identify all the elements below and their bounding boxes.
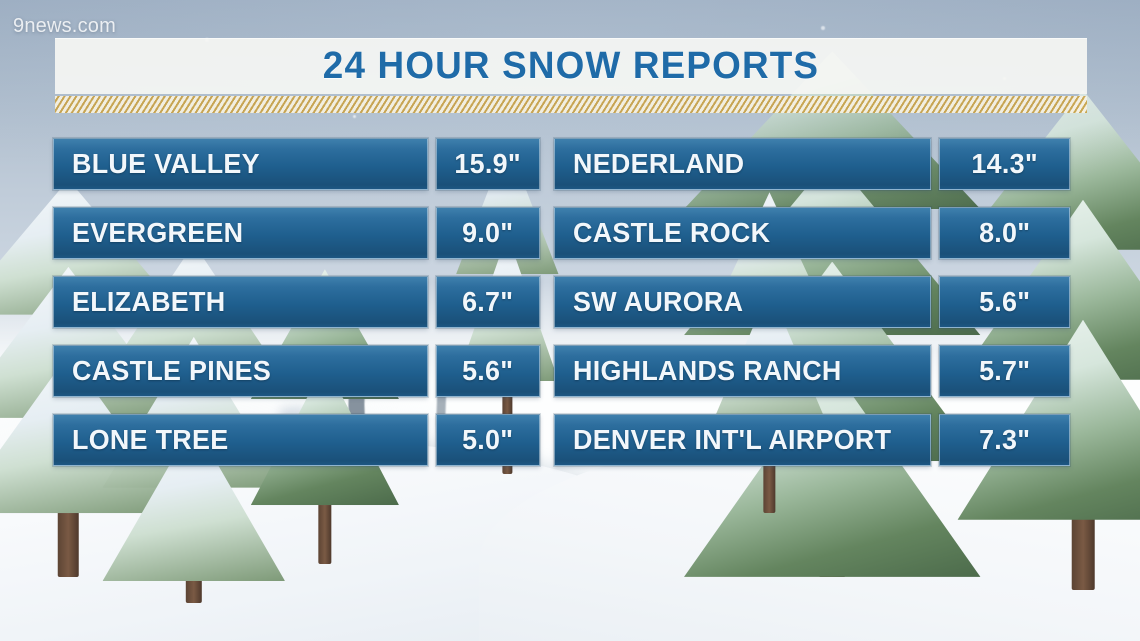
title-banner: 24 HOUR SNOW REPORTS <box>55 38 1087 94</box>
location-label: CASTLE PINES <box>72 355 271 387</box>
location-cell: SW AURORA <box>554 276 931 328</box>
snowfall-value: 5.7" <box>979 355 1030 387</box>
snowfall-cell: 15.9" <box>436 138 540 190</box>
snowfall-cell: 5.0" <box>436 414 540 466</box>
location-cell: CASTLE PINES <box>53 345 428 397</box>
location-label: NEDERLAND <box>573 148 744 180</box>
location-cell: DENVER INT'L AIRPORT <box>554 414 931 466</box>
location-label: HIGHLANDS RANCH <box>573 355 842 387</box>
snowfall-cell: 7.3" <box>939 414 1070 466</box>
snow-report-table: BLUE VALLEY 15.9" NEDERLAND 14.3" EVERGR… <box>53 138 1087 483</box>
location-label: ELIZABETH <box>72 286 225 318</box>
table-row: CASTLE PINES 5.6" HIGHLANDS RANCH 5.7" <box>53 345 1087 397</box>
location-cell: ELIZABETH <box>53 276 428 328</box>
table-row: BLUE VALLEY 15.9" NEDERLAND 14.3" <box>53 138 1087 190</box>
snowfall-value: 5.0" <box>462 424 513 456</box>
snowfall-value: 5.6" <box>462 355 513 387</box>
location-cell: NEDERLAND <box>554 138 931 190</box>
location-cell: CASTLE ROCK <box>554 207 931 259</box>
location-cell: EVERGREEN <box>53 207 428 259</box>
page-title: 24 HOUR SNOW REPORTS <box>70 38 1071 94</box>
table-row: LONE TREE 5.0" DENVER INT'L AIRPORT 7.3" <box>53 414 1087 466</box>
snowflake <box>821 26 825 30</box>
location-label: EVERGREEN <box>72 217 243 249</box>
location-cell: HIGHLANDS RANCH <box>554 345 931 397</box>
snowfall-value: 6.7" <box>462 286 513 318</box>
location-cell: BLUE VALLEY <box>53 138 428 190</box>
location-label: SW AURORA <box>573 286 743 318</box>
weather-graphic: 9news.com 24 HOUR SNOW REPORTS BLUE VALL… <box>0 0 1140 641</box>
snowfall-cell: 5.6" <box>436 345 540 397</box>
snowfall-cell: 8.0" <box>939 207 1070 259</box>
snowfall-cell: 9.0" <box>436 207 540 259</box>
location-cell: LONE TREE <box>53 414 428 466</box>
location-label: DENVER INT'L AIRPORT <box>573 424 891 456</box>
station-logo: 9news.com <box>13 15 116 38</box>
snowfall-cell: 5.7" <box>939 345 1070 397</box>
snowfall-value: 8.0" <box>979 217 1030 249</box>
snowfall-value: 15.9" <box>455 148 522 180</box>
snowfall-value: 9.0" <box>462 217 513 249</box>
snowfall-cell: 14.3" <box>939 138 1070 190</box>
snowfall-cell: 6.7" <box>436 276 540 328</box>
snowfall-value: 7.3" <box>979 424 1030 456</box>
location-label: CASTLE ROCK <box>573 217 770 249</box>
snowfall-value: 5.6" <box>979 286 1030 318</box>
location-label: BLUE VALLEY <box>72 148 260 180</box>
table-row: EVERGREEN 9.0" CASTLE ROCK 8.0" <box>53 207 1087 259</box>
gold-stripe-divider <box>55 96 1087 113</box>
snowfall-cell: 5.6" <box>939 276 1070 328</box>
snowfall-value: 14.3" <box>971 148 1038 180</box>
table-row: ELIZABETH 6.7" SW AURORA 5.6" <box>53 276 1087 328</box>
location-label: LONE TREE <box>72 424 228 456</box>
